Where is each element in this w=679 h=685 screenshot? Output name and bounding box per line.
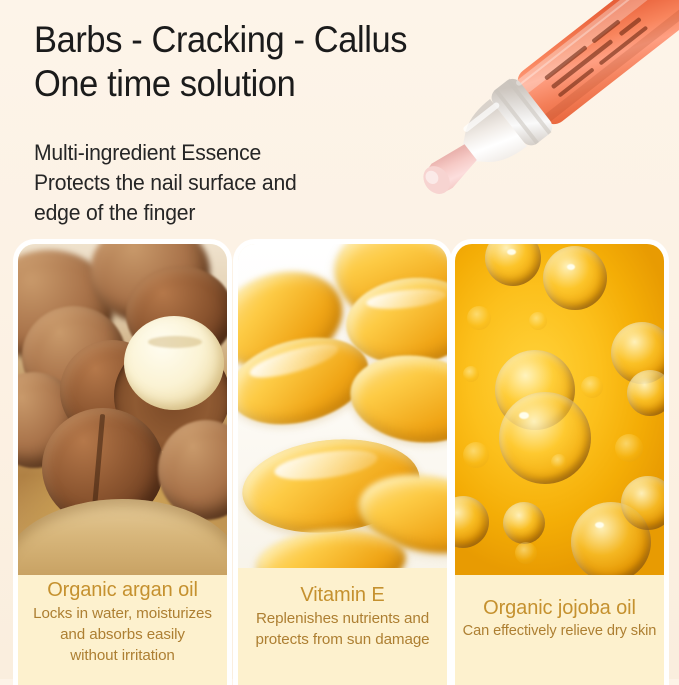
argan-card-desc-3: without irritation [18, 645, 227, 666]
argan-card-desc-2: and absorbs easily [18, 624, 227, 645]
subhead-line-1: Multi-ingredient Essence [34, 138, 438, 168]
ingredient-card-jojoba[interactable]: Organic jojoba oil Can effectively relie… [455, 244, 664, 685]
subhead-line-3: edge of the finger [34, 198, 438, 228]
ingredient-cards-row: Organic argan oil Locks in water, moistu… [0, 238, 679, 679]
jojoba-card-title: Organic jojoba oil [455, 595, 664, 621]
ingredient-card-argan[interactable]: Organic argan oil Locks in water, moistu… [18, 244, 227, 685]
header-section: Barbs - Cracking - Callus One time solut… [0, 0, 679, 240]
jojoba-card-desc-1: Can effectively relieve dry skin [455, 621, 664, 642]
argan-nuts-photo [18, 244, 227, 575]
subhead-line-2: Protects the nail surface and [34, 168, 438, 198]
vitamin-e-card-title: Vitamin E [238, 582, 447, 608]
ingredient-card-vitamin-e[interactable]: Vitamin E Replenishes nutrients and prot… [238, 244, 447, 685]
vitamin-e-card-desc-1: Replenishes nutrients and [238, 608, 447, 629]
argan-card-desc-1: Locks in water, moisturizes [18, 603, 227, 624]
jojoba-oil-bubbles-photo [455, 244, 664, 575]
argan-card-body: Organic argan oil Locks in water, moistu… [18, 575, 227, 685]
argan-card-title: Organic argan oil [18, 577, 227, 603]
jojoba-card-body: Organic jojoba oil Can effectively relie… [455, 575, 664, 685]
subhead-block: Multi-ingredient Essence Protects the na… [34, 138, 464, 228]
product-infographic: Barbs - Cracking - Callus One time solut… [0, 0, 679, 679]
pen-barrel [512, 0, 679, 129]
headline-line-2: One time solution [34, 62, 471, 106]
pen-label-text [544, 8, 648, 97]
vitamin-e-card-desc-2: protects from sun damage [238, 629, 447, 650]
headline-block: Barbs - Cracking - Callus One time solut… [34, 18, 504, 106]
vitamin-e-softgels-photo [238, 244, 447, 568]
vitamin-e-card-body: Vitamin E Replenishes nutrients and prot… [238, 568, 447, 685]
headline-line-1: Barbs - Cracking - Callus [34, 18, 471, 62]
